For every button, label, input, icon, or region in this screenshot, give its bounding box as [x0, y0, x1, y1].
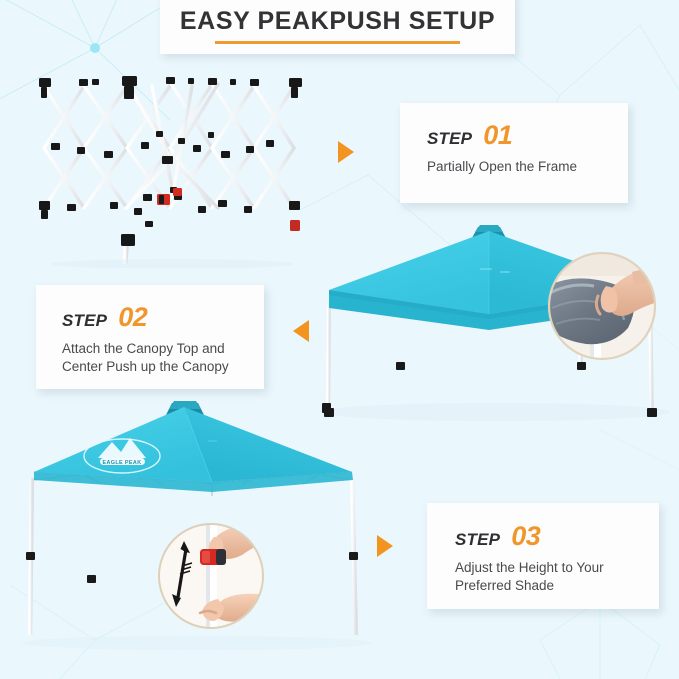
hand-attaching-canopy-fabric-photo: [546, 250, 658, 362]
triangle-left-icon: [293, 320, 309, 342]
step-label: STEP: [455, 530, 500, 550]
step-label: STEP: [427, 129, 472, 149]
title-card: EASY PEAKPUSH SETUP: [160, 0, 515, 54]
step-card-01: STEP 01 Partially Open the Frame: [400, 103, 628, 203]
step-description: Attach the Canopy Top and Center Push up…: [62, 340, 264, 376]
partially-opened-canopy-frame: [22, 68, 322, 268]
page-title: EASY PEAKPUSH SETUP: [180, 9, 495, 34]
svg-text:EAGLE PEAK: EAGLE PEAK: [102, 460, 141, 466]
step-heading: STEP 02: [62, 305, 264, 331]
step-number: 02: [118, 305, 147, 329]
title-underline: [215, 41, 460, 44]
red-release-button: [157, 188, 300, 231]
step-label: STEP: [62, 311, 107, 331]
step-card-02: STEP 02 Attach the Canopy Top and Center…: [36, 285, 264, 389]
step-description: Adjust the Height to Your Preferred Shad…: [455, 559, 659, 595]
step-description: Partially Open the Frame: [427, 158, 628, 176]
step-number: 01: [483, 123, 512, 147]
triangle-right-icon: [338, 141, 354, 163]
hands-adjusting-height-button-photo: [156, 521, 266, 631]
infographic-canvas: EAGLE PEAK: [0, 0, 679, 679]
step-heading: STEP 01: [427, 123, 628, 149]
step-card-03: STEP 03 Adjust the Height to Your Prefer…: [427, 503, 659, 609]
step-heading: STEP 03: [455, 524, 659, 550]
step-number: 03: [511, 524, 540, 548]
triangle-right-icon: [377, 535, 393, 557]
network-node-dot: [90, 43, 100, 53]
